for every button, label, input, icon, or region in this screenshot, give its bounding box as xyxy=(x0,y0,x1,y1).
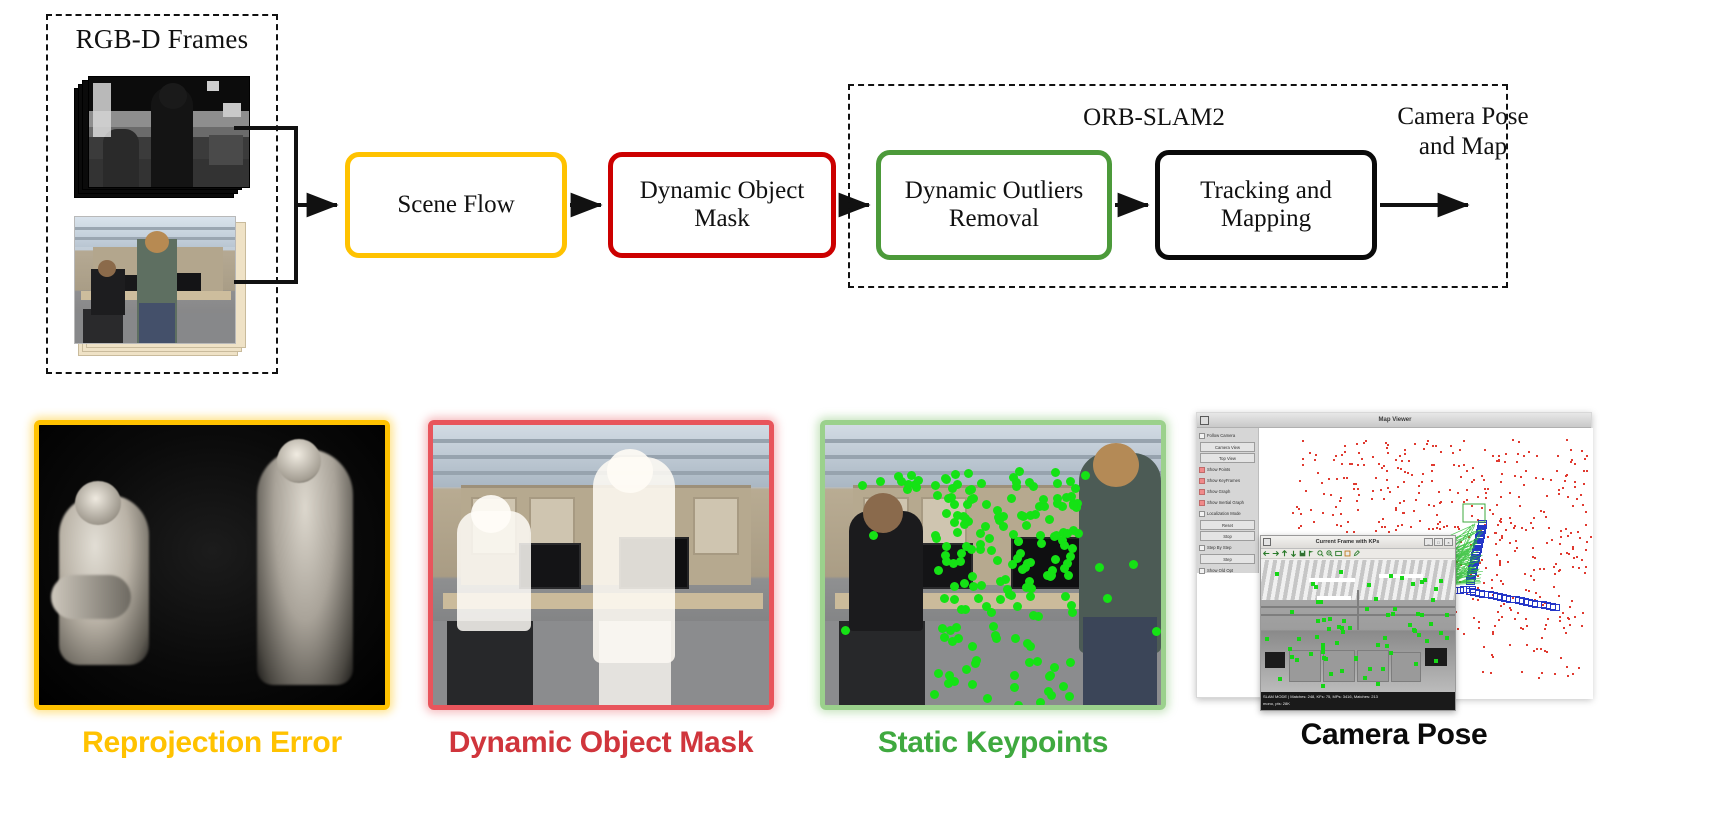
keypoint xyxy=(1420,580,1424,584)
rgb-frame-stack xyxy=(74,216,254,366)
control-checkbox-show-old-opt[interactable]: Show Old Opt xyxy=(1199,565,1256,576)
scene-flow-label: Scene Flow xyxy=(397,191,514,220)
map-viewer-titlebar: Map Viewer xyxy=(1197,413,1591,428)
control-checkbox-localization-mode[interactable]: Localization Mode xyxy=(1199,508,1256,519)
keypoint xyxy=(897,477,906,486)
keypoint xyxy=(1324,657,1328,661)
keypoint xyxy=(1431,598,1435,602)
process-box-tracking-and-mapping[interactable]: Tracking and Mapping xyxy=(1155,150,1377,260)
keypoint xyxy=(1321,643,1325,647)
window-menu-icon[interactable] xyxy=(1200,416,1209,425)
window-menu-icon[interactable] xyxy=(1263,538,1271,546)
keypoint xyxy=(1288,647,1292,651)
keypoint xyxy=(948,484,957,493)
zoom-in-icon[interactable] xyxy=(1317,550,1324,557)
keypoint xyxy=(1389,651,1393,655)
flag-icon[interactable] xyxy=(1308,550,1315,557)
keypoint xyxy=(991,631,1000,640)
keypoint xyxy=(1061,592,1070,601)
keypoint xyxy=(1381,667,1385,671)
keypoint xyxy=(1342,619,1346,623)
control-button-top-view[interactable]: Top View xyxy=(1200,453,1255,463)
control-label: Show Graph xyxy=(1207,489,1230,494)
keypoint xyxy=(1445,613,1449,617)
keypoint xyxy=(1065,692,1074,701)
keypoint xyxy=(1062,493,1071,502)
keypoint xyxy=(1391,612,1395,616)
control-checkbox-show-graph[interactable]: Show Graph xyxy=(1199,486,1256,497)
output-label: Camera Pose and Map xyxy=(1368,102,1558,161)
keypoint xyxy=(1348,626,1352,630)
keypoint xyxy=(950,595,959,604)
keypoint xyxy=(1315,635,1319,639)
keypoint xyxy=(1026,592,1035,601)
input-group-title: RGB-D Frames xyxy=(46,24,278,55)
control-checkbox-show-points[interactable]: Show Points xyxy=(1199,464,1256,475)
keypoint xyxy=(1034,612,1043,621)
control-label: Show Inertial Graph xyxy=(1207,500,1244,505)
caption-dynamic-object-mask: Dynamic Object Mask xyxy=(428,726,774,760)
fit-window-icon[interactable] xyxy=(1335,550,1342,557)
result-gallery: Reprojection Error xyxy=(0,398,1714,814)
keypoint xyxy=(957,605,966,614)
keypoint xyxy=(1265,637,1269,641)
map-viewer-title: Map Viewer xyxy=(1209,417,1591,423)
keypoint xyxy=(1420,613,1424,617)
keypoint xyxy=(1053,499,1062,508)
dynamic-object-mask-image xyxy=(428,420,774,710)
keypoint xyxy=(1389,574,1393,578)
keypoint xyxy=(1411,582,1415,586)
keypoint xyxy=(944,679,953,688)
control-label: Follow Camera xyxy=(1207,433,1235,438)
keypoint xyxy=(989,622,998,631)
keypoint xyxy=(931,481,940,490)
checkbox-icon[interactable] xyxy=(1199,511,1205,517)
keypoint xyxy=(1328,617,1332,621)
depth-frame-image xyxy=(88,76,250,188)
keypoint xyxy=(1316,619,1320,623)
control-checkbox-show-inertial-graph[interactable]: Show Inertial Graph xyxy=(1199,497,1256,508)
control-label: Step By Step xyxy=(1207,545,1231,550)
keypoint xyxy=(1393,607,1397,611)
control-button-camera-view[interactable]: Camera View xyxy=(1200,442,1255,452)
control-button-step[interactable]: Step xyxy=(1200,554,1255,564)
orb-slam2-group-title: ORB-SLAM2 xyxy=(1004,104,1304,132)
keypoint xyxy=(907,471,916,480)
keypoint xyxy=(1053,479,1062,488)
keypoint xyxy=(930,690,939,699)
keypoint xyxy=(959,512,968,521)
keypoint xyxy=(1068,608,1077,617)
keypoint xyxy=(1039,495,1048,504)
keypoint xyxy=(1013,602,1022,611)
keypoint xyxy=(1152,627,1161,636)
control-checkbox-follow-camera[interactable]: Follow Camera xyxy=(1199,430,1256,441)
arrow-down-icon[interactable] xyxy=(1290,550,1297,557)
keypoint xyxy=(993,556,1002,565)
keypoint xyxy=(1322,618,1326,622)
keypoint xyxy=(1400,576,1404,580)
keypoint xyxy=(1321,684,1325,688)
keypoint xyxy=(942,509,951,518)
keypoint xyxy=(1376,682,1380,686)
current-frame-status-bar: SLAM MODE | Matches: 248, KFs: 75, MPs: … xyxy=(1261,692,1455,710)
close-icon[interactable]: × xyxy=(1444,538,1453,546)
current-frame-window[interactable]: Current Frame with KPs _ □ × xyxy=(1260,535,1456,711)
keypoint xyxy=(940,594,949,603)
gallery-card-reprojection-error: Reprojection Error xyxy=(34,420,390,810)
keypoint xyxy=(999,522,1008,531)
save-icon[interactable] xyxy=(1299,550,1306,557)
keypoint xyxy=(1340,669,1344,673)
tracking-label-line2: Mapping xyxy=(1200,205,1332,234)
static-keypoints-image xyxy=(820,420,1166,710)
keypoint xyxy=(950,518,959,527)
keypoint xyxy=(1445,636,1449,640)
tracking-label-line1: Tracking and xyxy=(1200,177,1332,206)
caption-static-keypoints: Static Keypoints xyxy=(820,726,1166,760)
dynamic-outliers-label-line1: Dynamic Outliers xyxy=(905,177,1083,206)
keypoint xyxy=(950,582,959,591)
keypoint xyxy=(945,671,954,680)
caption-reprojection-error: Reprojection Error xyxy=(34,726,390,760)
output-label-line1: Camera Pose xyxy=(1368,102,1558,132)
keypoint xyxy=(1290,655,1294,659)
keypoint xyxy=(1290,610,1294,614)
keypoint xyxy=(960,579,969,588)
map-viewer-control-panel[interactable]: Follow CameraCamera ViewTop ViewShow Poi… xyxy=(1197,428,1259,573)
dynamic-object-mask-label-line1: Dynamic Object xyxy=(640,177,805,206)
control-button-reset[interactable]: Reset xyxy=(1200,520,1255,530)
dynamic-outliers-label-line2: Removal xyxy=(905,205,1083,234)
keypoint xyxy=(969,494,978,503)
keypoint xyxy=(1063,559,1072,568)
control-button-stop[interactable]: Stop xyxy=(1200,531,1255,541)
gallery-card-camera-pose: Map Viewer Follow CameraCamera ViewTop V… xyxy=(1196,412,1696,810)
checkbox-icon[interactable] xyxy=(1199,478,1205,484)
process-box-dynamic-outliers-removal[interactable]: Dynamic Outliers Removal xyxy=(876,150,1112,260)
pipeline-diagram: RGB-D Frames xyxy=(0,0,1714,400)
keypoint xyxy=(1414,662,1418,666)
keypoint xyxy=(1010,683,1019,692)
keypoint xyxy=(1341,630,1345,634)
keypoint xyxy=(934,669,943,678)
keypoint xyxy=(1069,501,1078,510)
arrow-right-icon[interactable] xyxy=(1272,550,1279,557)
keypoint xyxy=(1297,637,1301,641)
keypoint xyxy=(1439,631,1443,635)
keypoint xyxy=(869,531,878,540)
keypoint xyxy=(1022,521,1031,530)
keypoint xyxy=(1059,682,1068,691)
control-label: Show Old Opt xyxy=(1207,568,1233,573)
keypoint xyxy=(1275,572,1279,576)
keypoint xyxy=(1103,594,1112,603)
control-checkbox-show-keyframes[interactable]: Show KeyFrames xyxy=(1199,475,1256,486)
rgb-frame-image xyxy=(74,216,236,344)
keypoint xyxy=(1340,626,1344,630)
depth-frame-stack xyxy=(74,76,250,201)
keypoint xyxy=(1095,563,1104,572)
keypoint xyxy=(1374,597,1378,601)
checkbox-icon[interactable] xyxy=(1199,489,1205,495)
keypoint xyxy=(1365,607,1369,611)
keypoint xyxy=(1367,583,1371,587)
keypoint xyxy=(1434,659,1438,663)
keypoint xyxy=(1316,600,1320,604)
keypoint xyxy=(965,486,974,495)
checkbox-icon[interactable] xyxy=(1199,433,1205,439)
keypoint xyxy=(968,680,977,689)
arrow-up-icon[interactable] xyxy=(1281,550,1288,557)
keypoint xyxy=(934,566,943,575)
keypoint xyxy=(974,594,983,603)
keypoint xyxy=(983,694,992,703)
keypoint xyxy=(1033,657,1042,666)
keypoint xyxy=(1036,698,1045,705)
shape-icon[interactable] xyxy=(1344,550,1351,557)
keypoint xyxy=(1045,672,1054,681)
keypoint xyxy=(972,656,981,665)
edit-icon[interactable] xyxy=(1353,550,1360,557)
process-box-dynamic-object-mask[interactable]: Dynamic Object Mask xyxy=(608,152,836,258)
current-frame-image xyxy=(1261,560,1455,694)
control-label: Show KeyFrames xyxy=(1207,478,1240,483)
keypoint xyxy=(1363,676,1367,680)
keypoint xyxy=(962,665,971,674)
checkbox-icon[interactable] xyxy=(1199,500,1205,506)
keypoint xyxy=(1007,494,1016,503)
reprojection-error-image xyxy=(34,420,390,710)
keypoint xyxy=(1329,672,1333,676)
checkbox-icon[interactable] xyxy=(1199,568,1205,574)
keypoint xyxy=(1425,639,1429,643)
current-frame-toolbar[interactable] xyxy=(1261,549,1455,559)
control-label: Localization Mode xyxy=(1207,511,1241,516)
caption-camera-pose: Camera Pose xyxy=(1196,718,1592,752)
gallery-card-static-keypoints: Static Keypoints xyxy=(820,420,1166,810)
keypoint xyxy=(1295,658,1299,662)
keypoint xyxy=(1321,650,1325,654)
status-line-2: mono, pts: 28K xyxy=(1263,701,1290,706)
keypoint xyxy=(1408,623,1412,627)
status-line-1: SLAM MODE | Matches: 248, KFs: 75, MPs: … xyxy=(1263,694,1378,699)
window-buttons: _ □ × xyxy=(1424,538,1453,546)
checkbox-icon[interactable] xyxy=(1199,545,1205,551)
dynamic-object-mask-label-line2: Mask xyxy=(640,205,805,234)
keypoint xyxy=(1031,510,1040,519)
keypoint xyxy=(1385,644,1389,648)
gallery-card-dynamic-object-mask: Dynamic Object Mask xyxy=(428,420,774,810)
keypoint xyxy=(1376,643,1380,647)
current-frame-title: Current Frame with KPs xyxy=(1271,539,1424,545)
keypoint xyxy=(1335,641,1339,645)
control-label: Show Points xyxy=(1207,467,1230,472)
keypoint xyxy=(976,540,985,549)
maximize-icon[interactable]: □ xyxy=(1434,538,1443,546)
process-box-scene-flow[interactable]: Scene Flow xyxy=(345,152,567,258)
keypoint xyxy=(1417,633,1421,637)
keypoint xyxy=(1439,579,1443,583)
keypoint xyxy=(1278,677,1282,681)
keypoint xyxy=(1386,613,1390,617)
keypoint xyxy=(1311,582,1315,586)
zoom-out-icon[interactable] xyxy=(1326,550,1333,557)
minimize-icon[interactable]: _ xyxy=(1424,538,1433,546)
keypoint xyxy=(996,595,1005,604)
keypoint xyxy=(941,474,950,483)
keypoint xyxy=(1327,627,1331,631)
control-checkbox-step-by-step[interactable]: Step By Step xyxy=(1199,542,1256,553)
orb-slam2-map-viewer-window[interactable]: Map Viewer Follow CameraCamera ViewTop V… xyxy=(1196,412,1592,698)
keypoint xyxy=(933,491,942,500)
keypoint xyxy=(1434,587,1438,591)
keypoint xyxy=(1429,622,1433,626)
checkbox-icon[interactable] xyxy=(1199,467,1205,473)
keypoint xyxy=(1368,667,1372,671)
keypoint xyxy=(1309,652,1313,656)
keypoint xyxy=(964,469,973,478)
keypoint xyxy=(987,608,996,617)
keypoint xyxy=(1354,656,1358,660)
keypoint xyxy=(977,581,986,590)
keypoint xyxy=(962,542,971,551)
arrow-left-icon[interactable] xyxy=(1263,550,1270,557)
keypoint xyxy=(1383,636,1387,640)
output-label-line2: and Map xyxy=(1368,132,1558,162)
current-frame-titlebar: Current Frame with KPs _ □ × xyxy=(1261,536,1455,549)
keypoint xyxy=(1339,570,1343,574)
